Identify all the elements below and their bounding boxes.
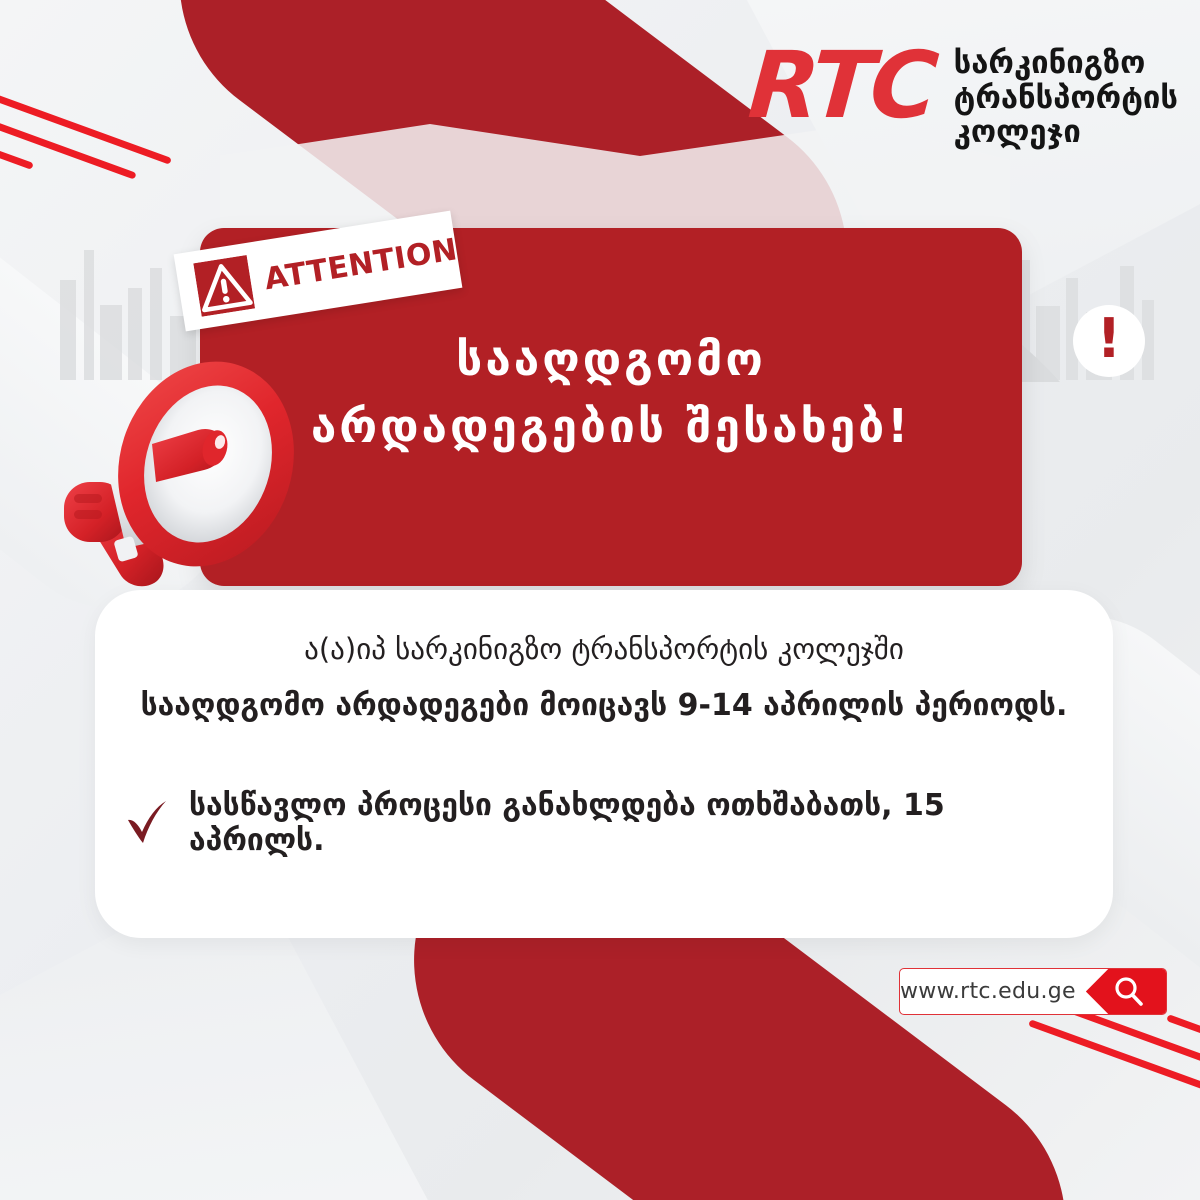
rtc-logo: RTC სარკინიგზო ტრანსპორტის კოლეჯი (749, 42, 1178, 150)
logo-mark: RTC (746, 42, 937, 129)
attention-badge-label: ATTENTION (262, 232, 460, 297)
check-mark-icon (125, 799, 171, 847)
website-search-bar[interactable]: www.rtc.edu.ge (899, 968, 1167, 1015)
magnifier-icon (1112, 975, 1146, 1009)
logo-wordmark-line-1: სარკინიგზო (954, 46, 1178, 81)
banner-title-line-2: არდადეგების შესახებ! (260, 393, 962, 460)
banner-title-line-1: სააღდგომო (260, 326, 962, 393)
info-check-row: სასწავლო პროცესი განახლდება ოთხშაბათს, 1… (125, 788, 1083, 858)
exclamation-glyph: ! (1097, 312, 1122, 366)
logo-wordmark-line-3: კოლეჯი (954, 115, 1178, 150)
megaphone-icon (48, 352, 310, 604)
warning-triangle-icon (193, 255, 255, 317)
banner-title: სააღდგომო არდადეგების შესახებ! (260, 326, 962, 459)
website-url-text: www.rtc.edu.ge (900, 979, 1086, 1004)
logo-wordmark: სარკინიგზო ტრანსპორტის კოლეჯი (954, 42, 1178, 150)
exclamation-circle-icon: ! (1073, 305, 1145, 377)
search-button[interactable] (1086, 969, 1167, 1014)
decor-stripes-bottom-right (1000, 1016, 1200, 1129)
info-text-line-2: სააღდგომო არდადეგები მოიცავს 9-14 აპრილი… (135, 688, 1073, 723)
info-text-line-1: ა(ა)იპ სარკინიგზო ტრანსპორტის კოლეჯში (135, 632, 1073, 666)
info-text-line-3: სასწავლო პროცესი განახლდება ოთხშაბათს, 1… (189, 788, 1083, 858)
poster-canvas: RTC სარკინიგზო ტრანსპორტის კოლეჯი სააღდგ… (0, 0, 1200, 1200)
logo-wordmark-line-2: ტრანსპორტის (954, 81, 1178, 116)
info-card: ა(ა)იპ სარკინიგზო ტრანსპორტის კოლეჯში სა… (95, 590, 1113, 938)
